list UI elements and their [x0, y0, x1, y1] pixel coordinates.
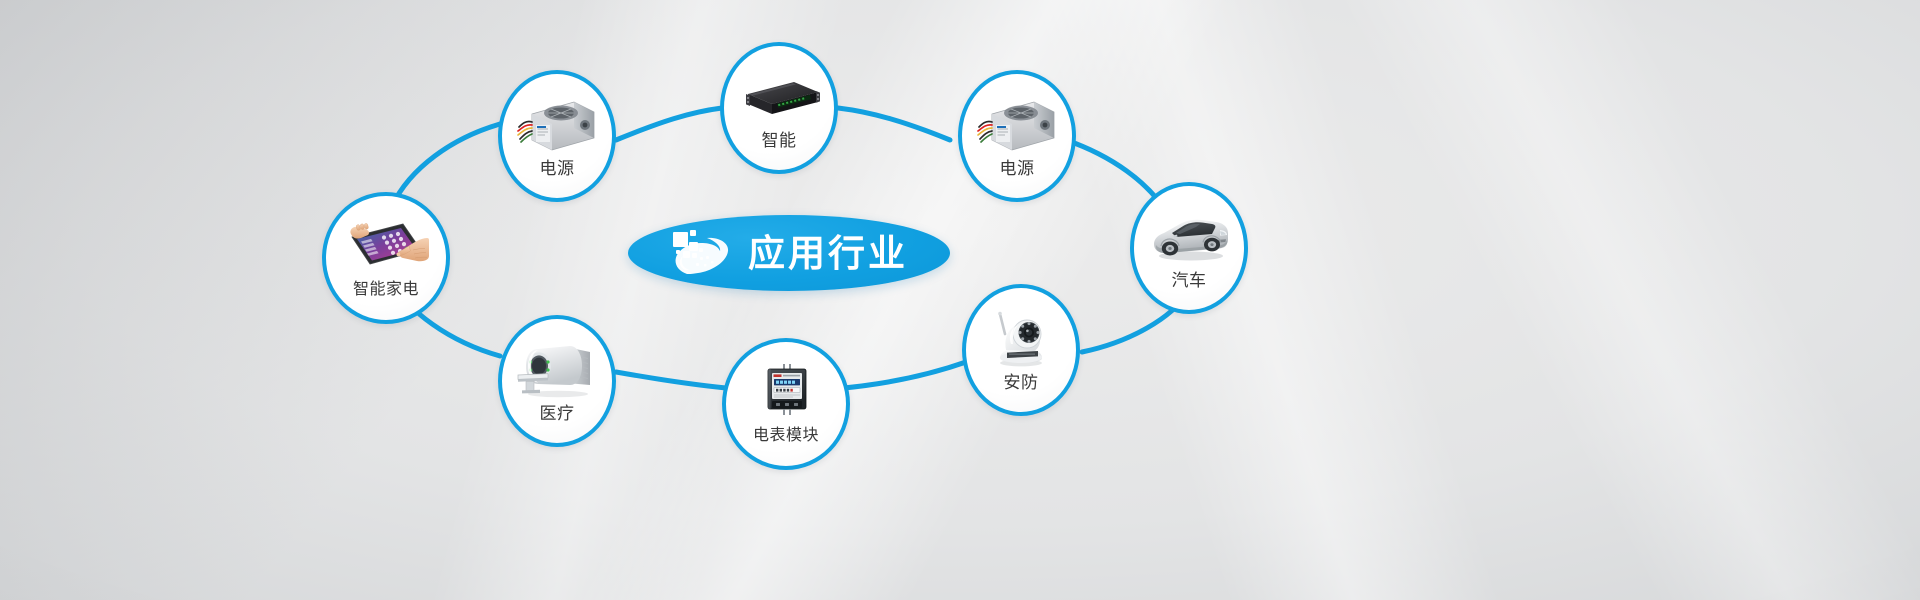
tablet-touch-icon — [343, 214, 429, 280]
node-power-right[interactable]: 电源 — [958, 70, 1076, 202]
center-title: 应用行业 — [748, 235, 908, 272]
node-smart[interactable]: 智能 — [720, 42, 838, 174]
node-label: 电源 — [1000, 160, 1035, 177]
node-smart-home[interactable]: 智能家电 — [322, 192, 450, 324]
node-medical[interactable]: 医疗 — [498, 315, 616, 447]
application-industries-banner: 应用行业 — [0, 0, 1920, 600]
node-label: 电表模块 — [753, 428, 819, 444]
sports-car-icon — [1146, 204, 1232, 270]
ip-camera-icon — [978, 306, 1064, 372]
node-meter-module[interactable]: 电表模块 — [722, 338, 850, 470]
connector-ring — [0, 0, 1920, 600]
center-badge: 应用行业 — [628, 215, 950, 291]
pc-power-supply-icon — [514, 92, 600, 158]
node-label: 智能 — [762, 132, 797, 149]
node-security[interactable]: 安防 — [962, 284, 1080, 416]
ct-scanner-icon — [514, 337, 600, 403]
electric-meter-icon — [743, 360, 829, 426]
pc-power-supply-icon — [974, 92, 1060, 158]
orbit-pixel-logo-icon — [670, 226, 732, 280]
node-power-left[interactable]: 电源 — [498, 70, 616, 202]
node-label: 安防 — [1004, 374, 1039, 391]
node-label: 医疗 — [540, 405, 575, 422]
node-label: 电源 — [540, 160, 575, 177]
node-label: 智能家电 — [353, 282, 419, 298]
node-label: 汽车 — [1172, 272, 1207, 289]
node-automotive[interactable]: 汽车 — [1130, 182, 1248, 314]
rackmount-server-icon — [736, 64, 822, 130]
